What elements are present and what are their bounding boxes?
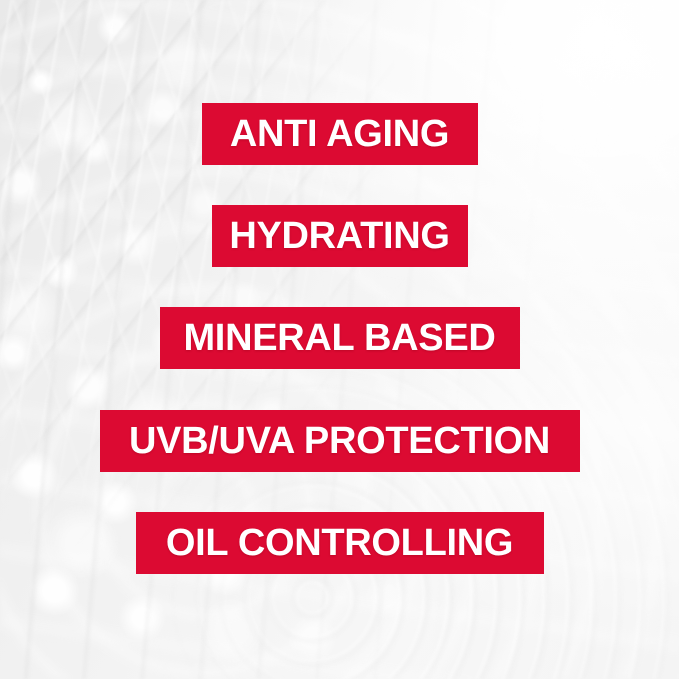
feature-banner-label: MINERAL BASED — [183, 319, 495, 357]
feature-banner-label: UVB/UVA PROTECTION — [129, 422, 550, 460]
feature-banner-mineral-based: MINERAL BASED — [160, 307, 520, 369]
feature-banner-oil-controlling: OIL CONTROLLING — [136, 512, 544, 574]
feature-banner-hydrating: HYDRATING — [212, 205, 468, 267]
feature-banner-label: ANTI AGING — [230, 115, 449, 153]
feature-banner-label: OIL CONTROLLING — [166, 524, 513, 562]
feature-banner-stack: ANTI AGING HYDRATING MINERAL BASED UVB/U… — [0, 0, 679, 679]
product-feature-poster: ANTI AGING HYDRATING MINERAL BASED UVB/U… — [0, 0, 679, 679]
feature-banner-label: HYDRATING — [229, 217, 449, 255]
feature-banner-uvb-uva-protection: UVB/UVA PROTECTION — [100, 410, 580, 472]
feature-banner-anti-aging: ANTI AGING — [202, 103, 478, 165]
